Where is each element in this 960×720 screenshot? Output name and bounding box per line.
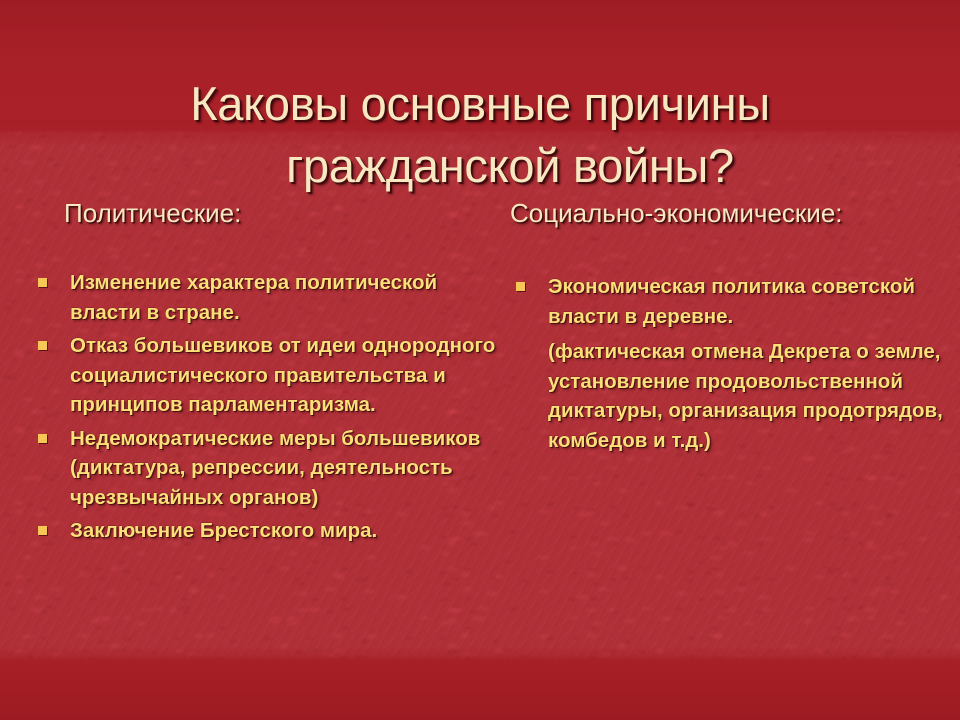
list-item-text: Экономическая политика советской власти … — [548, 275, 915, 328]
list-item: Недемократические меры большевиков (дикт… — [26, 424, 496, 513]
square-bullet-icon — [516, 282, 525, 291]
list-item-text: Отказ большевиков от идеи однородного со… — [70, 334, 495, 416]
column-socioeconomic: Социально-экономические: Экономическая п… — [498, 196, 948, 476]
column-heading-political: Политические: — [26, 196, 496, 230]
bullet-list-political: Изменение характера политической власти … — [26, 268, 496, 546]
list-item-text: Недемократические меры большевиков (дикт… — [70, 427, 480, 509]
square-bullet-icon — [38, 341, 47, 350]
slide-title-line-1: Каковы основные причины — [40, 73, 920, 135]
slide-content: Каковы основные причины гражданской войн… — [0, 0, 960, 720]
list-item: Отказ большевиков от идеи однородного со… — [26, 331, 496, 420]
list-item: Изменение характера политической власти … — [26, 268, 496, 327]
list-item-text: Заключение Брестского мира. — [70, 519, 377, 542]
square-bullet-icon — [38, 434, 47, 443]
column-political: Политические: Изменение характера полити… — [26, 196, 496, 550]
presentation-slide: Каковы основные причины гражданской войн… — [0, 0, 960, 720]
socioeconomic-sub-paragraph: (фактическая отмена Декрета о земле, уст… — [498, 337, 948, 455]
square-bullet-icon — [38, 278, 47, 287]
column-heading-socioeconomic: Социально-экономические: — [498, 196, 948, 230]
slide-title: Каковы основные причины гражданской войн… — [40, 73, 920, 197]
bullet-list-socioeconomic: Экономическая политика советской власти … — [498, 272, 948, 331]
list-item: Экономическая политика советской власти … — [498, 272, 948, 331]
slide-title-line-2: гражданской войны? — [40, 135, 920, 197]
list-item: Заключение Брестского мира. — [26, 516, 496, 546]
square-bullet-icon — [38, 526, 47, 535]
list-item-text: Изменение характера политической власти … — [70, 271, 437, 324]
